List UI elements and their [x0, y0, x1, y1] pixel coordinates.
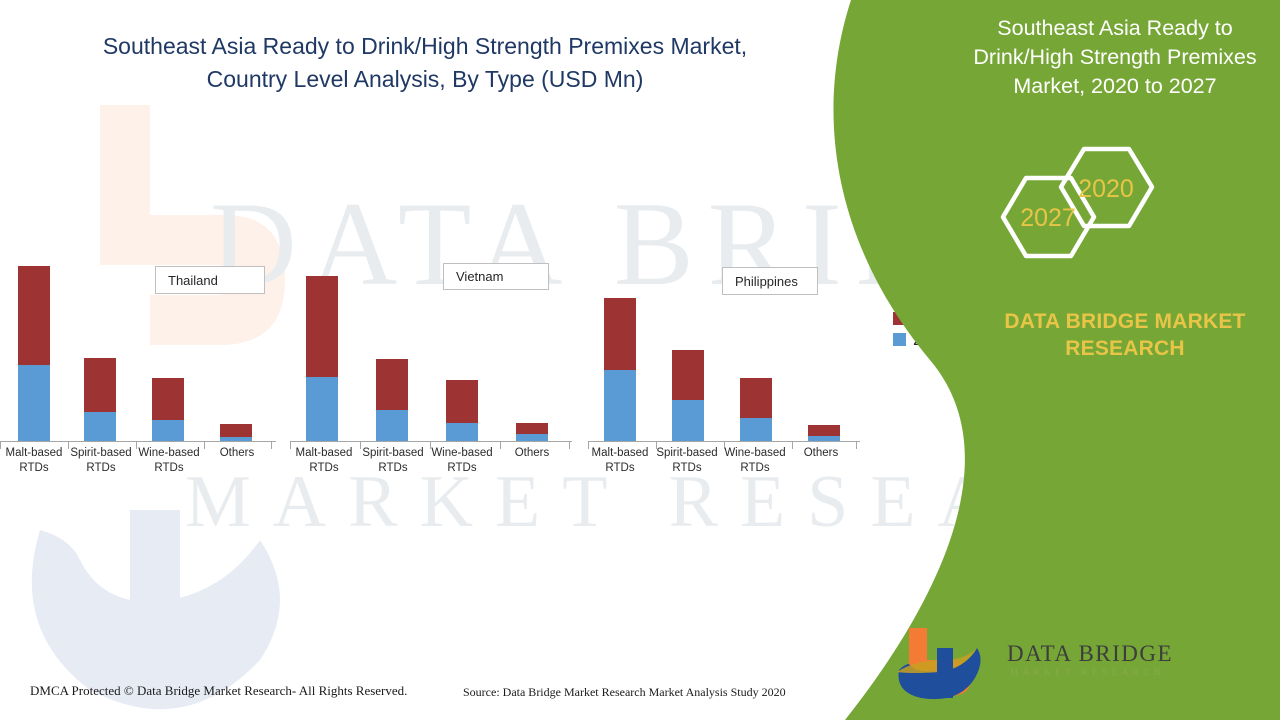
cat-label: Others — [202, 446, 272, 461]
bars-thailand — [0, 232, 276, 442]
segment-2019 — [740, 418, 772, 442]
bar-philippines-spirit-based-rtds[interactable] — [672, 350, 704, 442]
bar-vietnam-wine-based-rtds[interactable] — [446, 380, 478, 442]
country-label-text: Thailand — [168, 273, 218, 288]
footer-copyright: DMCA Protected © Data Bridge Market Rese… — [30, 683, 407, 699]
bar-thailand-others[interactable] — [220, 424, 252, 442]
segment-2027 — [306, 276, 338, 377]
segment-2027 — [808, 425, 840, 436]
bar-vietnam-others[interactable] — [516, 423, 548, 442]
logo-subtext: MARKET RESEARCH — [1010, 667, 1165, 677]
cat-label: Spirit-based RTDs — [64, 446, 138, 476]
segment-2019 — [672, 400, 704, 442]
segment-2027 — [446, 380, 478, 423]
cat-label: Wine-based RTDs — [720, 446, 790, 476]
panel-title-line-2: Drink/High Strength Premixes — [965, 43, 1265, 72]
bar-philippines-wine-based-rtds[interactable] — [740, 378, 772, 442]
segment-2027 — [516, 423, 548, 434]
hex-2020-label: 2020 — [1078, 175, 1134, 203]
legend-swatch-2027 — [893, 312, 906, 325]
segment-2019 — [306, 377, 338, 442]
legend-label: 2027 — [913, 309, 951, 329]
segment-2027 — [84, 358, 116, 412]
segment-2027 — [672, 350, 704, 400]
legend-item-2027[interactable]: 2027 — [893, 308, 951, 329]
logo-wordmark: DATA BRIDGE — [1007, 641, 1173, 667]
cat-label: Wine-based RTDs — [427, 446, 497, 476]
chart-title: Southeast Asia Ready to Drink/High Stren… — [30, 30, 820, 96]
cat-label: Others — [497, 446, 567, 461]
cat-label: Malt-based RTDs — [0, 446, 70, 476]
bar-thailand-spirit-based-rtds[interactable] — [84, 358, 116, 442]
country-group-thailand: Malt-based RTDs Spirit-based RTDs Wine-b… — [0, 150, 276, 490]
panel-title: Southeast Asia Ready to Drink/High Stren… — [965, 14, 1265, 101]
bar-vietnam-malt-based-rtds[interactable] — [306, 276, 338, 442]
hexagon-badges: 2027 2020 — [985, 145, 1185, 265]
bar-thailand-malt-based-rtds[interactable] — [18, 266, 50, 442]
category-labels-vietnam: Malt-based RTDs Spirit-based RTDs Wine-b… — [290, 444, 572, 490]
chart-legend: 2027 2019 — [893, 308, 951, 350]
category-labels-thailand: Malt-based RTDs Spirit-based RTDs Wine-b… — [0, 444, 276, 490]
legend-swatch-2019 — [893, 333, 906, 346]
brand-name-line-2: RESEARCH — [975, 335, 1275, 362]
segment-2027 — [18, 266, 50, 365]
cat-label: Malt-based RTDs — [584, 446, 656, 476]
chart-plot-area: Malt-based RTDs Spirit-based RTDs Wine-b… — [0, 150, 860, 490]
hexagon-group-svg: 2027 2020 — [985, 145, 1185, 265]
segment-2019 — [18, 365, 50, 442]
cat-label: Malt-based RTDs — [287, 446, 361, 476]
segment-2019 — [376, 410, 408, 442]
bar-thailand-wine-based-rtds[interactable] — [152, 378, 184, 442]
country-label-philippines[interactable]: Philippines — [722, 267, 818, 295]
country-group-philippines: Malt-based RTDs Spirit-based RTDs Wine-b… — [588, 150, 860, 490]
segment-2027 — [220, 424, 252, 437]
segment-2027 — [376, 359, 408, 410]
chart-title-line-1: Southeast Asia Ready to Drink/High Stren… — [30, 30, 820, 63]
slide-canvas: DATA BRIDGE MARKET RESEARCH Southeast As… — [0, 0, 1280, 720]
legend-item-2019[interactable]: 2019 — [893, 329, 951, 350]
country-group-vietnam: Malt-based RTDs Spirit-based RTDs Wine-b… — [290, 150, 572, 490]
cat-label: Others — [786, 446, 856, 461]
country-label-text: Vietnam — [456, 269, 503, 284]
panel-title-line-3: Market, 2020 to 2027 — [965, 72, 1265, 101]
footer-source: Source: Data Bridge Market Research Mark… — [463, 685, 786, 700]
segment-2019 — [446, 423, 478, 442]
chart-title-line-2: Country Level Analysis, By Type (USD Mn) — [30, 63, 820, 96]
hex-2027-label: 2027 — [1020, 204, 1076, 232]
cat-label: Spirit-based RTDs — [356, 446, 430, 476]
logo-b-stem — [937, 648, 953, 698]
bars-philippines — [588, 232, 860, 442]
bar-philippines-malt-based-rtds[interactable] — [604, 298, 636, 442]
country-label-text: Philippines — [735, 274, 798, 289]
cat-label: Wine-based RTDs — [134, 446, 204, 476]
brand-name-line-1: DATA BRIDGE MARKET — [975, 308, 1275, 335]
segment-2019 — [152, 420, 184, 442]
segment-2019 — [84, 412, 116, 442]
category-labels-philippines: Malt-based RTDs Spirit-based RTDs Wine-b… — [588, 444, 860, 490]
bar-vietnam-spirit-based-rtds[interactable] — [376, 359, 408, 442]
segment-2027 — [152, 378, 184, 420]
panel-title-line-1: Southeast Asia Ready to — [965, 14, 1265, 43]
bar-philippines-others[interactable] — [808, 425, 840, 442]
cat-label: Spirit-based RTDs — [650, 446, 724, 476]
brand-name: DATA BRIDGE MARKET RESEARCH — [975, 308, 1275, 362]
segment-2027 — [604, 298, 636, 370]
segment-2019 — [604, 370, 636, 442]
country-label-thailand[interactable]: Thailand — [155, 266, 265, 294]
segment-2027 — [740, 378, 772, 418]
legend-label: 2019 — [913, 330, 951, 350]
country-label-vietnam[interactable]: Vietnam — [443, 263, 549, 290]
